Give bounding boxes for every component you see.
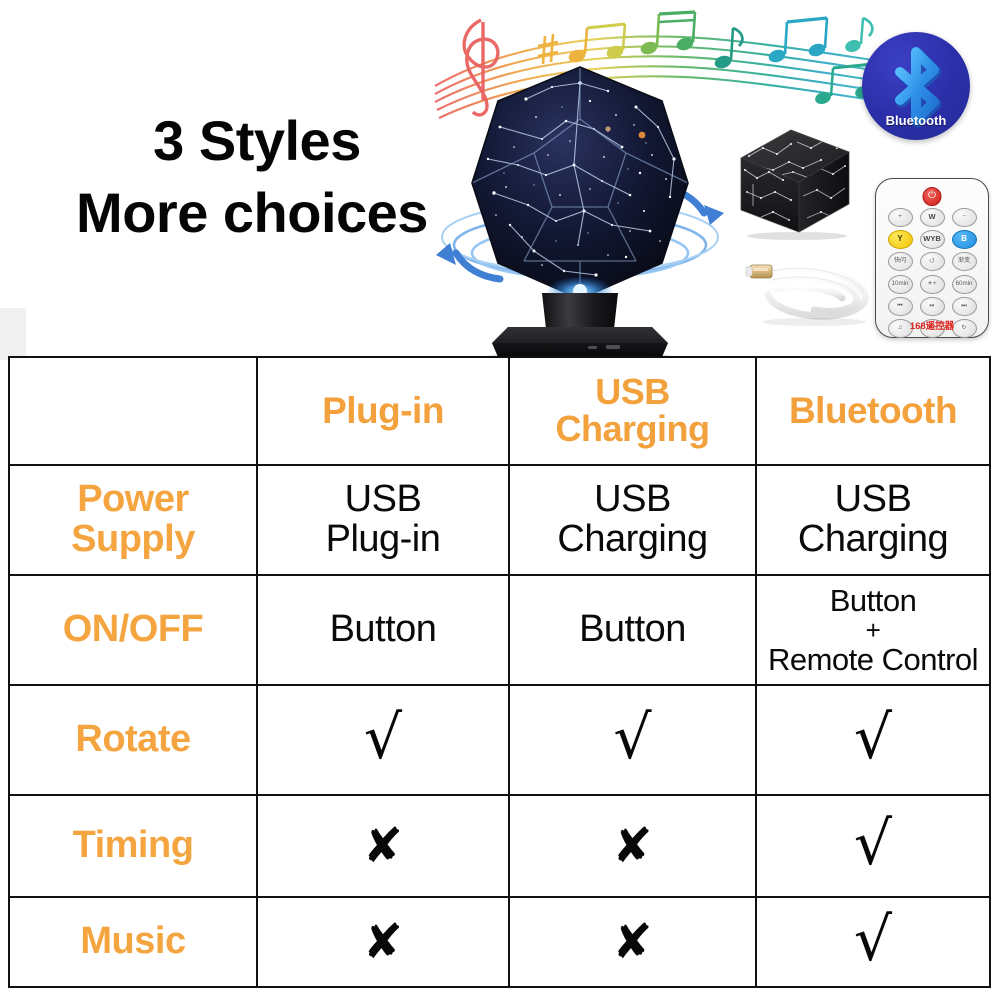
remote-key-next[interactable]: ⏭ — [952, 297, 977, 316]
check-icon: √ — [613, 708, 651, 768]
remote-key-play-pause[interactable]: ⏯ — [920, 297, 945, 316]
row-label-power-line-2: Supply — [71, 520, 195, 560]
cell-power-bt-line-2: Charging — [798, 520, 948, 560]
cell-power-usb-line-1: USB — [557, 480, 707, 520]
remote-key-60min[interactable]: 60min — [952, 275, 977, 294]
remote-key-y[interactable]: Y — [888, 230, 913, 249]
cell-onoff-bt-plus: + — [768, 617, 978, 643]
remote-key-w[interactable]: W — [920, 208, 945, 227]
row-label-power-supply: Power Supply — [10, 466, 258, 574]
cell-power-usb-charging: USB Charging — [510, 466, 757, 574]
cross-icon: ✘ — [363, 822, 403, 870]
usb-cable — [742, 248, 882, 328]
remote-key-minus[interactable]: − — [952, 208, 977, 227]
cell-rotate-bluetooth: √ — [757, 686, 989, 794]
table-row-power-supply: Power Supply USB Plug-in USB Charging US… — [10, 466, 989, 576]
row-label-on-off: ON/OFF — [10, 576, 258, 684]
header-usb-line-1: USB — [556, 374, 710, 411]
cell-power-bluetooth: USB Charging — [757, 466, 989, 574]
check-icon: √ — [854, 814, 892, 874]
header-bluetooth-label: Bluetooth — [789, 390, 957, 431]
remote-key-10min[interactable]: 10min — [888, 275, 913, 294]
cell-rotate-plug-in: √ — [258, 686, 510, 794]
cell-onoff-bt-line-3: Remote Control — [768, 643, 978, 676]
row-label-timing: Timing — [10, 796, 258, 896]
remote-key-prev[interactable]: ⏮ — [888, 297, 913, 316]
table-row-music: Music ✘ ✘ √ — [10, 898, 989, 986]
remote-key-flash[interactable]: 快闪 — [888, 252, 913, 271]
headline-line-2: More choices — [52, 180, 452, 246]
header-cell-bluetooth: Bluetooth — [757, 358, 989, 464]
cross-icon: ✘ — [612, 822, 652, 870]
table-row-rotate: Rotate √ √ √ — [10, 686, 989, 796]
cell-power-bt-line-1: USB — [798, 480, 948, 520]
row-label-on-off-text: ON/OFF — [63, 608, 204, 650]
headline-line-1: 3 Styles — [52, 108, 452, 174]
cell-music-usb-charging: ✘ — [510, 898, 757, 986]
remote-key-wyb[interactable]: WYB — [920, 230, 945, 249]
cell-power-plug-in: USB Plug-in — [258, 466, 510, 574]
cell-power-usb-line-2: Charging — [557, 520, 707, 560]
bluetooth-icon — [900, 52, 936, 122]
constellation-gift-box — [733, 122, 855, 242]
remote-key-plus[interactable]: + — [888, 208, 913, 227]
left-gray-band — [0, 308, 26, 360]
remote-key-b[interactable]: B — [952, 230, 977, 249]
table-row-on-off: ON/OFF Button Button Button + Remote Con… — [10, 576, 989, 686]
check-icon: √ — [854, 910, 892, 970]
row-label-rotate-text: Rotate — [75, 718, 190, 760]
row-label-music-text: Music — [80, 920, 185, 962]
cell-timing-plug-in: ✘ — [258, 796, 510, 896]
cell-onoff-plug-in: Button — [258, 576, 510, 684]
remote-key-rotate[interactable]: ⭯ — [920, 252, 945, 271]
header-cell-empty — [10, 358, 258, 464]
remote-power-button[interactable]: ⏻ — [923, 187, 942, 206]
remote-key-fade[interactable]: 渐变 — [952, 252, 977, 271]
cell-onoff-bluetooth: Button + Remote Control — [757, 576, 989, 684]
row-label-rotate: Rotate — [10, 686, 258, 794]
cell-onoff-usb-text: Button — [579, 608, 686, 650]
bluetooth-badge: Bluetooth — [862, 32, 970, 140]
cross-icon: ✘ — [363, 918, 403, 966]
check-icon: √ — [364, 708, 402, 768]
remote-control: ⏻ + W − Y WYB B 快闪 ⭯ 渐变 10min ☀+ 60min ⏮… — [875, 178, 989, 338]
row-label-power-line-1: Power — [71, 480, 195, 520]
headline: 3 Styles More choices — [52, 108, 452, 246]
cell-onoff-plug-in-text: Button — [330, 608, 437, 650]
bluetooth-badge-label: Bluetooth — [862, 113, 970, 128]
cell-power-plug-in-line-2: Plug-in — [326, 520, 441, 560]
infographic-page: Bluetooth ⏻ + W − Y WYB B 快闪 ⭯ 渐变 10min … — [0, 0, 1000, 1000]
row-label-music: Music — [10, 898, 258, 986]
cell-timing-bluetooth: √ — [757, 796, 989, 896]
cell-rotate-usb-charging: √ — [510, 686, 757, 794]
header-cell-plug-in: Plug-in — [258, 358, 510, 464]
cell-music-plug-in: ✘ — [258, 898, 510, 986]
cell-onoff-bt-line-1: Button — [768, 584, 978, 617]
cell-power-plug-in-line-1: USB — [326, 480, 441, 520]
table-row-timing: Timing ✘ ✘ √ — [10, 796, 989, 898]
header-usb-line-2: Charging — [556, 411, 710, 448]
remote-brand-label: 168遥控器 — [876, 318, 988, 332]
check-icon: √ — [854, 708, 892, 768]
header-cell-usb-charging: USB Charging — [510, 358, 757, 464]
row-label-timing-text: Timing — [73, 824, 194, 866]
remote-key-bright-up[interactable]: ☀+ — [920, 275, 945, 294]
cell-music-bluetooth: √ — [757, 898, 989, 986]
cell-onoff-usb-charging: Button — [510, 576, 757, 684]
cell-timing-usb-charging: ✘ — [510, 796, 757, 896]
table-header-row: Plug-in USB Charging Bluetooth — [10, 358, 989, 466]
cross-icon: ✘ — [612, 918, 652, 966]
header-plug-in-label: Plug-in — [322, 390, 444, 431]
comparison-table: Plug-in USB Charging Bluetooth Power Sup… — [8, 356, 991, 988]
star-projector-lamp — [430, 55, 730, 360]
